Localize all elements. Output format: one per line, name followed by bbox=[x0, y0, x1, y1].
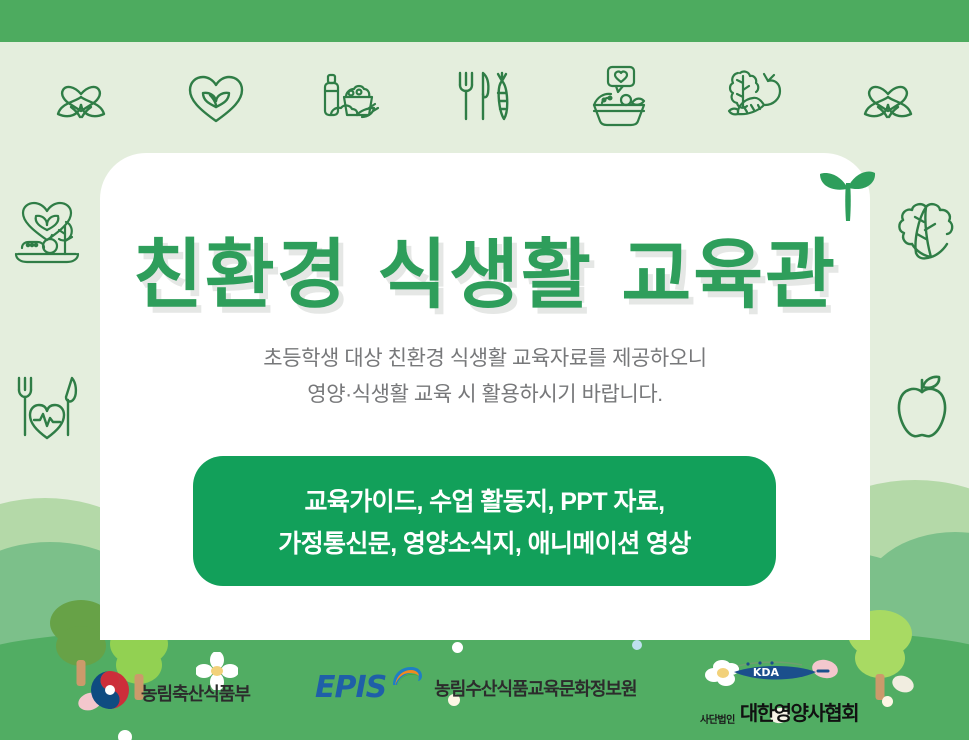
petal-white bbox=[118, 730, 132, 740]
logo-kda: KDA 사단법인 대한영양사협회 bbox=[700, 658, 858, 726]
logo-kda-name: 대한영양사협회 bbox=[740, 697, 858, 726]
subtitle-line-2: 영양·식생활 교육 시 활용하시기 바랍니다. bbox=[100, 377, 870, 413]
banner-root: 친환경 식생활 교육관 초등학생 대상 친환경 식생활 교육자료를 제공하오니 … bbox=[0, 0, 969, 740]
salad-bowl-heart-icon bbox=[582, 59, 656, 133]
svg-text:KDA: KDA bbox=[753, 666, 780, 679]
fork-knife-carrot-icon bbox=[447, 59, 521, 133]
page-title: 친환경 식생활 교육관 bbox=[133, 213, 837, 323]
title-area: 친환경 식생활 교육관 bbox=[100, 213, 870, 323]
materials-highlight-box[interactable]: 교육가이드, 수업 활동지, PPT 자료, 가정통신문, 영양소식지, 애니메… bbox=[193, 456, 776, 586]
taegeuk-icon bbox=[88, 668, 132, 717]
logo-kda-prefix: 사단법인 bbox=[700, 711, 735, 726]
apple-icon bbox=[885, 370, 959, 444]
logo-mafra: 농림축산식품부 bbox=[88, 668, 250, 717]
top-green-band bbox=[0, 0, 969, 42]
materials-line-2: 가정통신문, 영양소식지, 애니메이션 영상 bbox=[278, 524, 691, 560]
vegetables-icon bbox=[716, 59, 790, 133]
subtitle-line-1: 초등학생 대상 친환경 식생활 교육자료를 제공하오니 bbox=[100, 341, 870, 377]
logo-epis: EPIS 농림수산식품교육문화정보원 bbox=[315, 670, 637, 705]
logo-epis-label: 농림수산식품교육문화정보원 bbox=[434, 675, 636, 701]
grocery-basket-icon bbox=[313, 59, 387, 133]
logo-kda-label: 사단법인 대한영양사협회 bbox=[700, 697, 858, 726]
subtitle-text: 초등학생 대상 친환경 식생활 교육자료를 제공하오니 영양·식생활 교육 시 … bbox=[100, 341, 870, 413]
heart-plate-garden-icon bbox=[10, 196, 84, 270]
heart-leaf-icon bbox=[179, 59, 253, 133]
kda-flower-icon: KDA bbox=[704, 658, 854, 695]
petal-white bbox=[452, 642, 463, 653]
decorative-icon-column-right bbox=[877, 196, 967, 444]
decorative-icon-row-top bbox=[0, 46, 969, 146]
lettuce-icon bbox=[885, 196, 959, 270]
epis-wordmark: EPIS bbox=[315, 670, 386, 705]
content-card: 친환경 식생활 교육관 초등학생 대상 친환경 식생활 교육자료를 제공하오니 … bbox=[100, 153, 870, 640]
fork-knife-heartbeat-icon bbox=[10, 370, 84, 444]
logo-mafra-label: 농림축산식품부 bbox=[141, 680, 250, 706]
epis-swoosh-icon bbox=[389, 665, 423, 694]
materials-line-1: 교육가이드, 수업 활동지, PPT 자료, bbox=[304, 482, 664, 518]
logo-strip: 농림축산식품부 EPIS 농림수산식품교육문화정보원 bbox=[0, 656, 969, 726]
decorative-icon-column-left bbox=[2, 196, 92, 444]
petal-blue bbox=[632, 640, 642, 650]
sprout-icon bbox=[818, 169, 876, 226]
heart-sprout-icon bbox=[851, 59, 925, 133]
heart-sprout-icon bbox=[44, 59, 118, 133]
